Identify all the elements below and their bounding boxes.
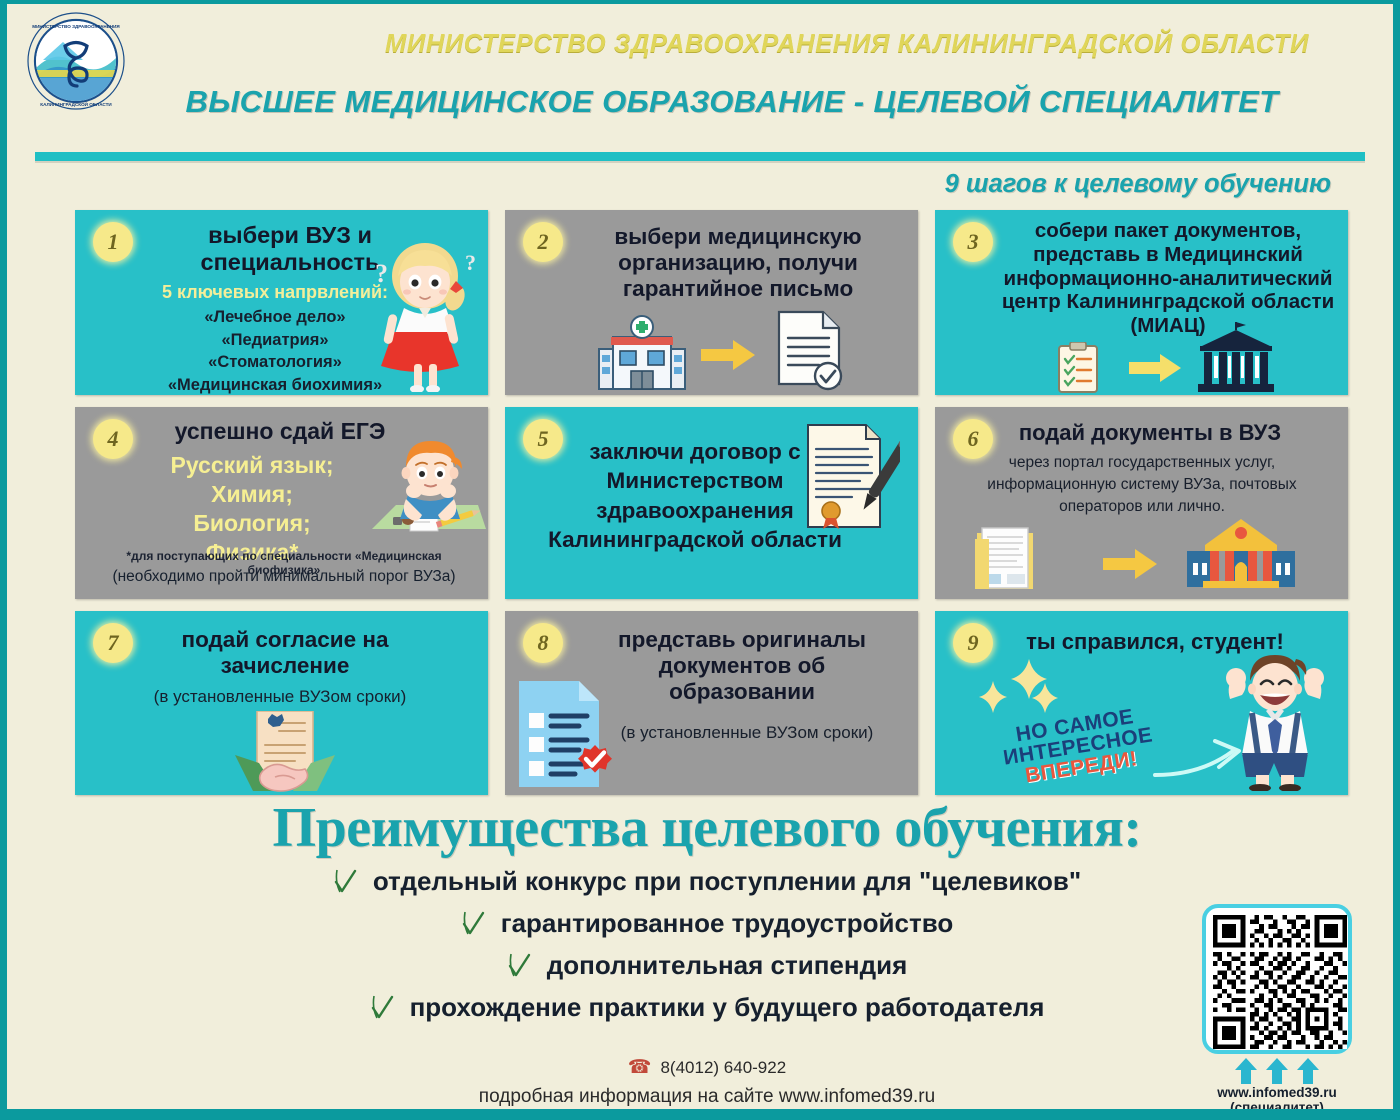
benefit-text: гарантированное трудоустройство	[501, 908, 954, 939]
step-title: представь оригиналы документов об образо…	[597, 627, 887, 705]
university-building-icon	[1185, 519, 1297, 594]
benefit-item: гарантированное трудоустройство	[7, 908, 1400, 939]
footnote-threshold: (необходимо пройти минимальный порог ВУЗ…	[89, 568, 479, 586]
clipboard-checklist-icon	[1057, 342, 1099, 395]
qr-block: www.infomed39.ru (специалитет)	[1193, 904, 1361, 1115]
contact-website-line: подробная информация на сайте www.infome…	[7, 1086, 1400, 1108]
svg-text:КАЛИНИНГРАДСКОЙ ОБЛАСТИ: КАЛИНИНГРАДСКОЙ ОБЛАСТИ	[40, 100, 111, 107]
step-card-6: 6 подай документы в ВУЗ через портал гос…	[935, 407, 1348, 599]
svg-text:?: ?	[465, 250, 476, 275]
step-card-4: 4 успешно сдай ЕГЭ Русский язык; Химия; …	[75, 407, 488, 599]
step-number-badge: 1	[93, 222, 133, 262]
handshake-certificate-icon	[235, 711, 335, 795]
page-title: ВЫСШЕЕ МЕДИЦИНСКОЕ ОБРАЗОВАНИЕ - ЦЕЛЕВОЙ…	[107, 84, 1357, 120]
arrow-right-icon	[1129, 354, 1181, 387]
step-card-7: 7 подай согласие на зачисление (в устано…	[75, 611, 488, 795]
step-card-5: 5 заключи договор с Министерством здраво…	[505, 407, 918, 599]
step-card-8: 8 представь оригиналы документов об обра…	[505, 611, 918, 795]
arrow-up-icon	[1296, 1058, 1320, 1084]
step-title: заключи договор с Министерством здравоох…	[545, 437, 845, 554]
contact-phone-line: ☎8(4012) 640-922	[7, 1056, 1400, 1079]
step-number-badge: 3	[953, 222, 993, 262]
step-card-9: 9 ты справился, студент! НО САМОЕ ИНТЕРЕ…	[935, 611, 1348, 795]
benefit-item: дополнительная стипендия	[7, 950, 1400, 981]
phone-number: 8(4012) 640-922	[660, 1058, 786, 1077]
step-subtitle: через портал государственных услуг, инфо…	[947, 452, 1337, 518]
arrow-up-icon	[1265, 1058, 1289, 1084]
qr-sub-label: (специалитет)	[1193, 1100, 1361, 1115]
qr-url-label: www.infomed39.ru	[1193, 1085, 1361, 1100]
check-icon	[333, 868, 359, 896]
steps-subtitle: 9 шагов к целевому обучению	[945, 170, 1331, 199]
benefit-text: отдельный конкурс при поступлении для "ц…	[373, 866, 1081, 897]
subject-item: Биология;	[127, 509, 377, 538]
step-number-badge: 7	[93, 623, 133, 663]
svg-text:МИНИСТЕРСТВО ЗДРАВООХРАНЕНИЯ: МИНИСТЕРСТВО ЗДРАВООХРАНЕНИЯ	[32, 24, 119, 29]
step-title: выбери медицинскую организацию, получи г…	[573, 224, 903, 302]
svg-text:?: ?	[375, 259, 388, 288]
step-card-1: 1 выбери ВУЗ и специальность 5 ключевых …	[75, 210, 488, 395]
celebrating-boy-icon	[1216, 647, 1334, 795]
arrow-up-icon	[1234, 1058, 1258, 1084]
steps-grid: 1 выбери ВУЗ и специальность 5 ключевых …	[75, 210, 1345, 795]
telephone-icon: ☎	[628, 1057, 652, 1078]
boy-studying-icon	[366, 433, 486, 558]
benefits-title: Преимущества целевого обучения:	[7, 796, 1400, 860]
header-divider	[35, 152, 1365, 161]
hospital-building-icon	[597, 315, 687, 395]
step-title: подай документы в ВУЗ	[985, 420, 1315, 446]
step-card-2: 2 выбери медицинскую организацию, получи…	[505, 210, 918, 395]
documents-folder-icon	[973, 525, 1045, 599]
step-card-3: 3 собери пакет документов, представь в М…	[935, 210, 1348, 395]
step-title: подай согласие на зачисление	[145, 627, 425, 679]
qr-code[interactable]	[1202, 904, 1352, 1054]
benefit-text: дополнительная стипендия	[547, 950, 907, 981]
arrow-right-icon	[1103, 549, 1157, 584]
check-icon	[370, 994, 396, 1022]
step-subtitle: (в установленные ВУЗом сроки)	[105, 687, 455, 707]
government-building-icon	[1197, 322, 1275, 395]
subject-item: Химия;	[127, 480, 377, 509]
step-number-badge: 2	[523, 222, 563, 262]
benefit-text: прохождение практики у будущего работода…	[410, 992, 1045, 1023]
step-number-badge: 9	[953, 623, 993, 663]
benefit-item: отдельный конкурс при поступлении для "ц…	[7, 866, 1400, 897]
ministry-title: МИНИСТЕРСТВО ЗДРАВООХРАНЕНИЯ КАЛИНИНГРАД…	[337, 30, 1357, 59]
infographic-page: МИНИСТЕРСТВО ЗДРАВООХРАНЕНИЯ КАЛИНИНГРАД…	[0, 0, 1400, 1120]
benefit-item: прохождение практики у будущего работода…	[7, 992, 1400, 1023]
checklist-document-icon	[517, 677, 617, 794]
check-icon	[507, 952, 533, 980]
check-icon	[461, 910, 487, 938]
guarantee-letter-icon	[775, 310, 847, 395]
step-title: собери пакет документов, представь в Мед…	[993, 219, 1343, 338]
header: МИНИСТЕРСТВО ЗДРАВООХРАНЕНИЯ КАЛИНИНГРАД…	[7, 4, 1393, 149]
step-subtitle: (в установленные ВУЗом сроки)	[597, 723, 897, 743]
benefits-list: отдельный конкурс при поступлении для "ц…	[7, 866, 1400, 1034]
step-number-badge: 8	[523, 623, 563, 663]
subject-item: Русский язык;	[127, 451, 377, 480]
contract-document-icon	[804, 423, 900, 534]
arrow-right-icon	[701, 340, 755, 375]
up-arrows-group	[1193, 1058, 1361, 1084]
girl-thinking-icon: ? ?	[357, 232, 482, 395]
